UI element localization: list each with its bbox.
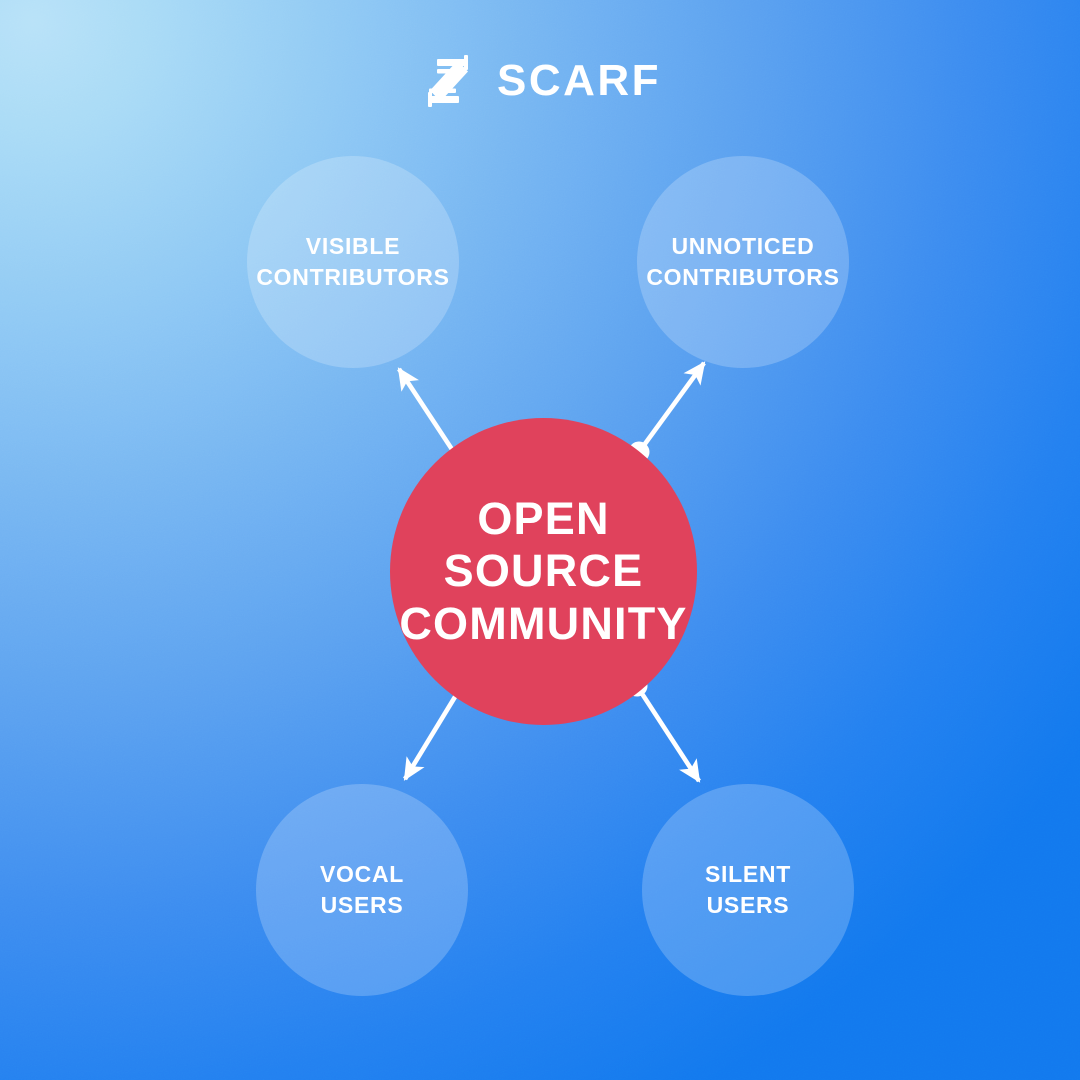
node-visible-contributors[interactable]: VISIBLE CONTRIBUTORS [247,156,459,368]
diagram-canvas: SCARF VISIBLE CONTRIBUTORS UN [0,0,1080,1080]
node-open-source-community[interactable]: OPEN SOURCE COMMUNITY [390,418,697,725]
node-visible-contributors-label: VISIBLE CONTRIBUTORS [256,231,449,292]
node-open-source-community-label: OPEN SOURCE COMMUNITY [399,493,687,651]
node-unnoticed-contributors-label: UNNOTICED CONTRIBUTORS [646,231,839,292]
connector-to-silent-users [637,686,699,781]
connector-to-vocal-users [405,687,461,779]
node-silent-users[interactable]: SILENT USERS [642,784,854,996]
node-vocal-users-label: VOCAL USERS [320,859,404,920]
connector-to-visible-contributors [399,369,459,460]
connector-to-unnoticed-contributors [639,363,704,452]
node-unnoticed-contributors[interactable]: UNNOTICED CONTRIBUTORS [637,156,849,368]
node-vocal-users[interactable]: VOCAL USERS [256,784,468,996]
node-silent-users-label: SILENT USERS [705,859,791,920]
